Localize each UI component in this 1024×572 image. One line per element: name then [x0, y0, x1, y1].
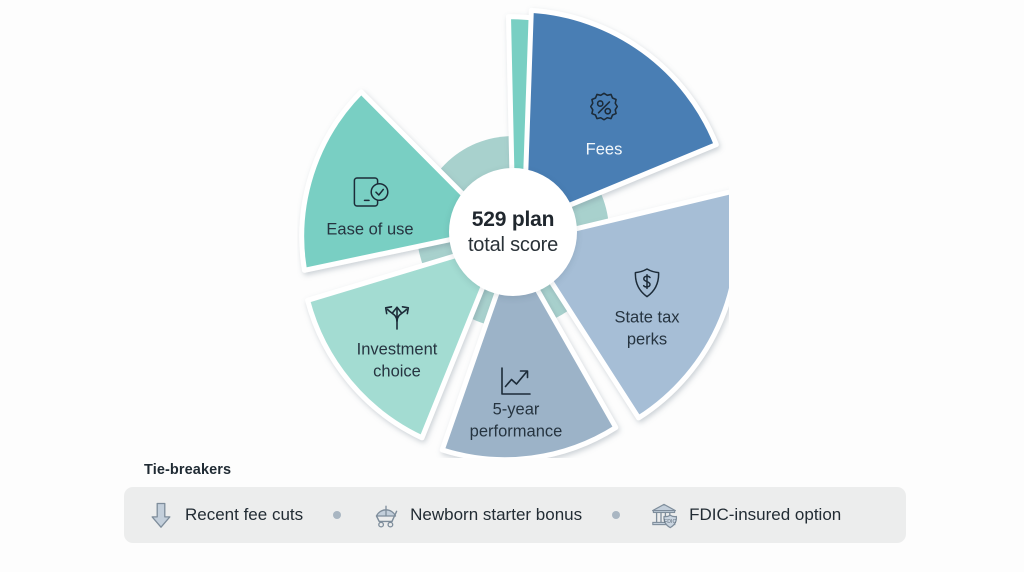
bank-shield-fdic-icon: FDIC — [650, 500, 680, 530]
slice-ease-of-use-label: Ease of use — [326, 220, 413, 238]
slice-state-tax-perks-label-2: perks — [627, 330, 667, 348]
center-score-label: 529 plan — [472, 207, 554, 233]
tie-breaker-item-newborn-starter-bonus[interactable]: Newborn starter bonus — [371, 500, 582, 530]
tie-breaker-item-fdic-insured-option[interactable]: FDIC FDIC-insured option — [650, 500, 841, 530]
tie-breaker-label: Recent fee cuts — [185, 505, 303, 525]
down-arrow-icon — [146, 500, 176, 530]
slice-investment-choice-label-1: Investment — [357, 340, 438, 358]
svg-text:FDIC: FDIC — [664, 519, 676, 525]
slice-investment-choice-label-2: choice — [373, 362, 421, 380]
tie-breakers-title: Tie-breakers — [144, 462, 906, 478]
slice-state-tax-perks-label-1: State tax — [614, 308, 680, 326]
tie-breaker-label: FDIC-insured option — [689, 505, 841, 525]
slice-fees-label: Fees — [586, 140, 623, 158]
tie-breaker-item-recent-fee-cuts[interactable]: Recent fee cuts — [146, 500, 303, 530]
separator-dot — [333, 511, 341, 519]
infographic-canvas: Fees State tax perks 5-year — [0, 0, 1024, 572]
slice-5-year-performance-label-2: performance — [470, 422, 563, 440]
tie-breakers-bar: Recent fee cuts Newborn starter bonus — [124, 487, 906, 543]
donut-chart: Fees State tax perks 5-year — [297, 2, 729, 458]
center-hub: 529 plan total score — [449, 168, 577, 296]
stroller-icon — [371, 500, 401, 530]
separator-dot — [612, 511, 620, 519]
center-subtitle: total score — [468, 233, 558, 258]
slice-5-year-performance-label-1: 5-year — [493, 400, 540, 418]
tie-breakers-section: Tie-breakers Recent fee cuts — [124, 462, 906, 543]
tie-breaker-label: Newborn starter bonus — [410, 505, 582, 525]
